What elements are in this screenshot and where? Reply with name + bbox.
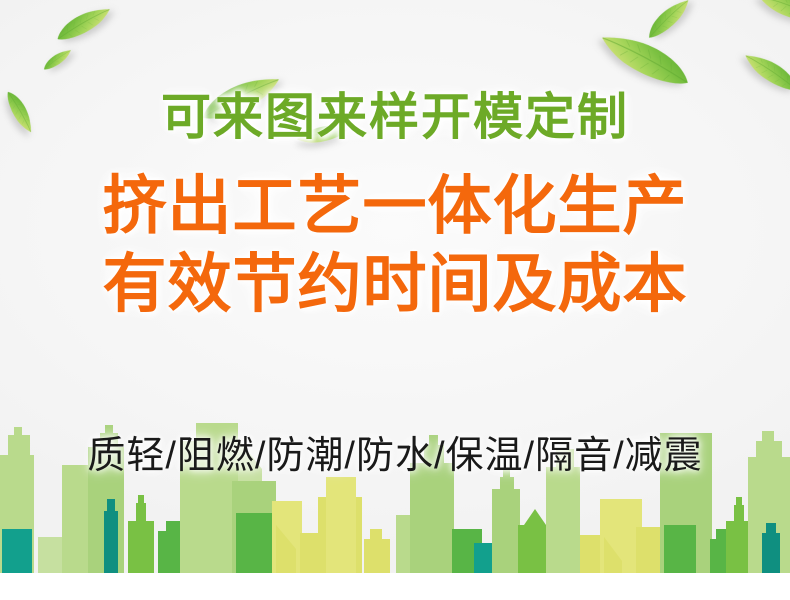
headline-line-3: 有效节约时间及成本 [0, 252, 790, 316]
headline-block: 可来图来样开模定制 挤出工艺一体化生产 有效节约时间及成本 [0, 92, 790, 316]
leaf-icon [642, 0, 695, 44]
promo-banner: 可来图来样开模定制 挤出工艺一体化生产 有效节约时间及成本 质轻/阻燃/防潮/防… [0, 0, 790, 600]
footer-white-strip [0, 573, 790, 600]
leaf-icon [754, 0, 790, 29]
feature-subtitle: 质轻/阻燃/防潮/防水/保温/隔音/减震 [0, 424, 790, 479]
leaf-icon [740, 47, 790, 98]
headline-line-1: 可来图来样开模定制 [0, 92, 790, 142]
headline-line-2: 挤出工艺一体化生产 [0, 174, 790, 238]
leaf-icon [40, 45, 74, 73]
leaf-icon [51, 1, 115, 47]
leaf-icon [594, 24, 697, 95]
